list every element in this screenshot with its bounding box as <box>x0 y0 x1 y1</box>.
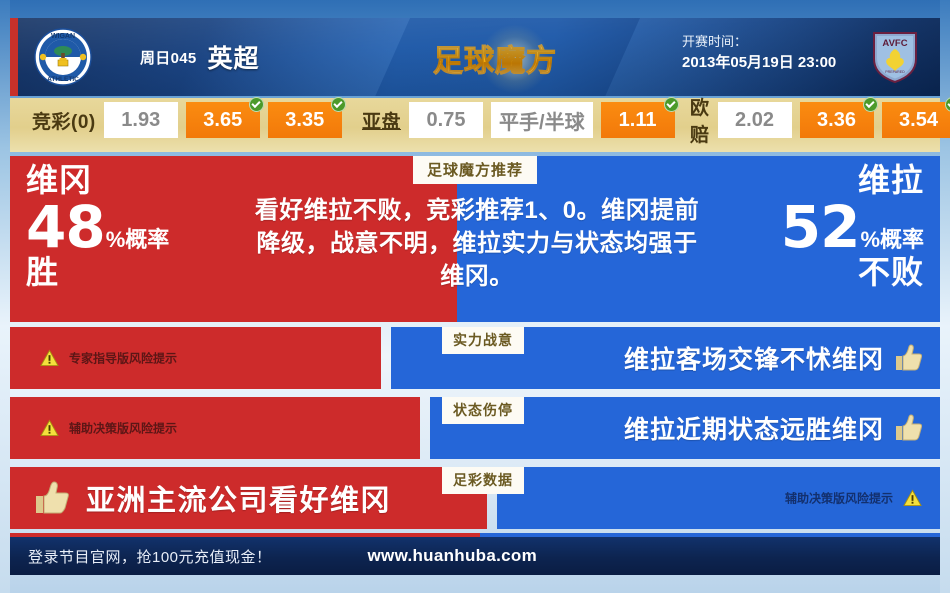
row-message: 亚洲主流公司看好维冈 <box>34 477 391 519</box>
match-round: 周日045 <box>140 47 197 68</box>
kickoff-time: 开赛时间： 2013年05月19日 23:00 <box>682 32 836 74</box>
check-icon <box>664 97 679 112</box>
check-icon <box>331 97 346 112</box>
match-league: 英超 <box>208 39 260 75</box>
odds-cell-jingcai-1[interactable]: 1.93 <box>104 102 178 138</box>
odds-cell-yapan-handicap[interactable]: 平手/半球 <box>491 102 593 138</box>
svg-text:PREPARED: PREPARED <box>885 70 905 74</box>
warning-triangle-icon <box>903 490 922 507</box>
thumbs-up-icon <box>34 481 72 515</box>
svg-text:ATHLETIC: ATHLETIC <box>47 76 79 83</box>
warning-triangle-icon <box>40 350 59 367</box>
prediction-band: 维冈 48 %概率 胜 维拉 52 %概率 不败 足球魔方推荐 看好维拉不败，竞… <box>10 156 940 322</box>
check-icon <box>945 97 950 112</box>
home-outcome: 胜 <box>26 256 169 290</box>
warning-triangle-icon <box>40 420 59 437</box>
match-meta: 周日045 英超 <box>140 18 260 96</box>
prediction-text: 看好维拉不败，竞彩推荐1、0。维冈提前降级，战意不明，维拉实力与状态均强于维冈。 <box>247 194 707 293</box>
odds-cell-oupei-1[interactable]: 2.02 <box>718 102 792 138</box>
left-gutter <box>0 0 10 593</box>
odds-value: 3.65 <box>203 109 242 132</box>
odds-cell-yapan-3[interactable]: 1.11 <box>601 102 675 138</box>
check-icon <box>863 97 878 112</box>
row-tab-label: 状态伤停 <box>442 397 524 424</box>
odds-group-yapan: 亚盘 0.75 平手/半球 1.11 <box>362 98 675 142</box>
odds-cell-oupei-3[interactable]: 3.54 <box>882 102 950 138</box>
row-message-text: 维拉近期状态远胜维冈 <box>624 410 884 446</box>
row-message-text: 亚洲主流公司看好维冈 <box>86 477 391 519</box>
footer-promo-text: 登录节目官网，抢100元充值现金！ <box>28 546 272 567</box>
odds-group-jingcai: 竞彩(0) 1.93 3.65 3.35 <box>32 98 342 142</box>
odds-value: 1.11 <box>619 109 657 132</box>
home-probability-unit: %概率 <box>106 229 170 251</box>
match-header: WIGAN ATHLETIC 周日045 英超 足球魔方 开赛时间： 2013年… <box>10 18 940 96</box>
row-left-panel: 辅助决策版风险提示 <box>10 397 420 459</box>
odds-group-label: 欧赔 <box>690 93 710 147</box>
home-probability-number: 48 <box>26 198 105 256</box>
odds-group-label: 竞彩(0) <box>32 107 96 134</box>
row-message-text: 维拉客场交锋不怵维冈 <box>624 340 884 376</box>
brand-logo-text: 足球魔方 <box>433 36 557 80</box>
odds-cell-jingcai-3[interactable]: 3.35 <box>268 102 342 138</box>
row-tab-label: 实力战意 <box>442 327 524 354</box>
prediction-card: WIGAN ATHLETIC 周日045 英超 足球魔方 开赛时间： 2013年… <box>0 0 950 593</box>
odds-bar: 竞彩(0) 1.93 3.65 3.35 亚盘 0.75 平手/半球 1.11 <box>10 98 940 152</box>
odds-value: 3.54 <box>899 109 938 132</box>
comparison-row-strength: 专家指导版风险提示 维拉客场交锋不怵维冈 实力战意 <box>10 327 940 389</box>
row-left-panel: 专家指导版风险提示 <box>10 327 381 389</box>
row-message: 维拉近期状态远胜维冈 <box>624 410 924 446</box>
right-gutter <box>940 0 950 593</box>
thumbs-up-icon <box>894 344 924 372</box>
svg-text:WIGAN: WIGAN <box>51 33 75 40</box>
expert-risk-warning: 专家指导版风险提示 <box>40 350 177 367</box>
odds-cell-yapan-1[interactable]: 0.75 <box>409 102 483 138</box>
away-probability: 维拉 52 %概率 不败 <box>781 164 924 289</box>
assistant-risk-warning: 辅助决策版风险提示 <box>40 420 177 437</box>
home-team-crest-icon: WIGAN ATHLETIC <box>34 28 92 86</box>
odds-group-oupei: 欧赔 2.02 3.36 3.54 <box>690 98 950 142</box>
header-red-accent <box>10 18 18 96</box>
comparison-row-data: 亚洲主流公司看好维冈 辅助决策版风险提示 足彩数据 <box>10 467 940 529</box>
odds-cell-oupei-2[interactable]: 3.36 <box>800 102 874 138</box>
footer-bar: 登录节目官网，抢100元充值现金！ www.huanhuba.com <box>10 537 940 575</box>
row-tab-label: 足彩数据 <box>442 467 524 494</box>
brand-logo: 足球魔方 <box>420 32 570 84</box>
away-probability-number: 52 <box>781 198 860 256</box>
footer-website-link[interactable]: www.huanhuba.com <box>368 546 537 566</box>
svg-text:AVFC: AVFC <box>882 38 907 49</box>
row-left-panel: 亚洲主流公司看好维冈 <box>10 467 487 529</box>
kickoff-value: 2013年05月19日 23:00 <box>682 52 836 75</box>
away-outcome: 不败 <box>781 256 924 290</box>
odds-value: 3.35 <box>285 109 324 132</box>
odds-value: 3.36 <box>817 109 856 132</box>
row-right-panel: 辅助决策版风险提示 <box>497 467 940 529</box>
home-probability: 维冈 48 %概率 胜 <box>26 164 169 289</box>
band-tab-label: 足球魔方推荐 <box>413 156 537 184</box>
risk-warning-text: 专家指导版风险提示 <box>69 350 177 367</box>
odds-group-label: 亚盘 <box>362 107 401 134</box>
comparison-row-form: 辅助决策版风险提示 维拉近期状态远胜维冈 状态伤停 <box>10 397 940 459</box>
risk-warning-text: 辅助决策版风险提示 <box>69 420 177 437</box>
odds-cell-jingcai-2[interactable]: 3.65 <box>186 102 260 138</box>
away-team-crest-icon: AVFC PREPARED <box>866 27 924 85</box>
thumbs-up-icon <box>894 414 924 442</box>
check-icon <box>249 97 264 112</box>
assistant-risk-warning: 辅助决策版风险提示 <box>785 490 922 507</box>
risk-warning-text: 辅助决策版风险提示 <box>785 490 893 507</box>
away-probability-unit: %概率 <box>860 229 924 251</box>
kickoff-label: 开赛时间： <box>682 32 836 52</box>
row-message: 维拉客场交锋不怵维冈 <box>624 340 924 376</box>
